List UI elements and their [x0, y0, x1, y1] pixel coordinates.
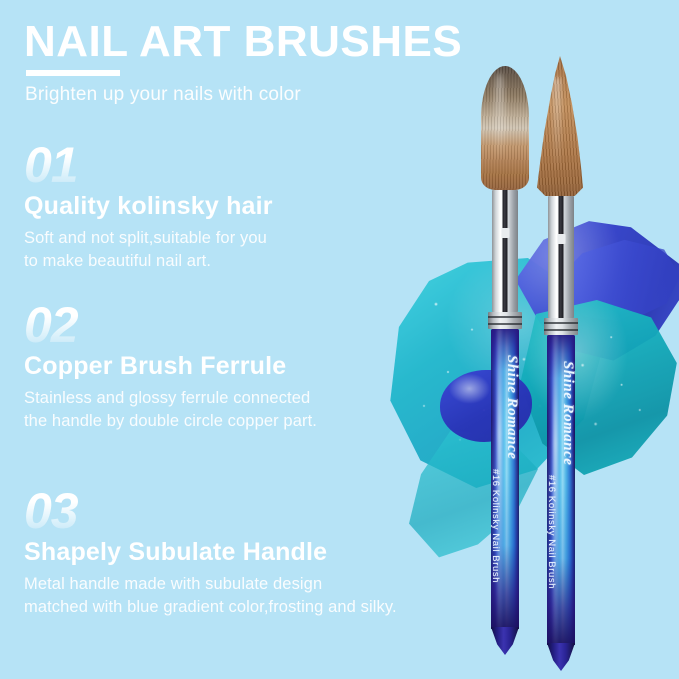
feature-desc-line: the handle by double circle copper part. [24, 410, 494, 433]
feature-title-01: Quality kolinsky hair [24, 192, 494, 221]
handle-tip [491, 627, 519, 655]
feature-desc-line: Metal handle made with subulate design [24, 573, 494, 596]
feature-desc-line: Stainless and glossy ferrule connected [24, 387, 494, 410]
feature-desc-line: to make beautiful nail art. [24, 250, 494, 273]
feature-block-03: 03 Shapely Subulate Handle Metal handle … [24, 486, 494, 620]
feature-number-03: 03 [24, 486, 144, 536]
brush-hair-pointed [537, 56, 585, 196]
page-title: NAIL ART BRUSHES [24, 20, 462, 64]
nail-brush-pointed: Shine Romance #16 Kolinsky Nail Brush [537, 56, 585, 645]
handle-highlight [497, 329, 502, 629]
feature-number-02: 02 [24, 300, 144, 350]
feature-desc-line: Soft and not split,suitable for you [24, 227, 494, 250]
title-underline-rule [26, 70, 120, 76]
feature-description-03: Metal handle made with subulate design m… [24, 573, 494, 620]
brush-ferrule [492, 190, 518, 312]
ferrule-stripe [503, 190, 508, 312]
brush-ferrule [548, 196, 574, 318]
feature-number-01: 01 [24, 140, 144, 190]
feature-title-03: Shapely Subulate Handle [24, 538, 494, 567]
brush-handle: Shine Romance #16 Kolinsky Nail Brush [547, 335, 575, 645]
handle-tip [547, 643, 575, 671]
feature-block-01: 01 Quality kolinsky hair Soft and not sp… [24, 140, 494, 274]
page-subtitle: Brighten up your nails with color [25, 84, 301, 106]
feature-description-02: Stainless and glossy ferrule connected t… [24, 387, 494, 434]
feature-desc-line: matched with blue gradient color,frostin… [24, 596, 494, 619]
feature-block-02: 02 Copper Brush Ferrule Stainless and gl… [24, 300, 494, 434]
ferrule-stripe [559, 196, 564, 318]
product-marketing-banner: Shine Romance #16 Kolinsky Nail Brush Sh… [0, 0, 679, 679]
handle-highlight [553, 335, 558, 645]
copper-double-rings [544, 318, 578, 335]
brush-handle: Shine Romance #16 Kolinsky Nail Brush [491, 329, 519, 629]
feature-description-01: Soft and not split,suitable for you to m… [24, 227, 494, 274]
feature-title-02: Copper Brush Ferrule [24, 352, 494, 381]
